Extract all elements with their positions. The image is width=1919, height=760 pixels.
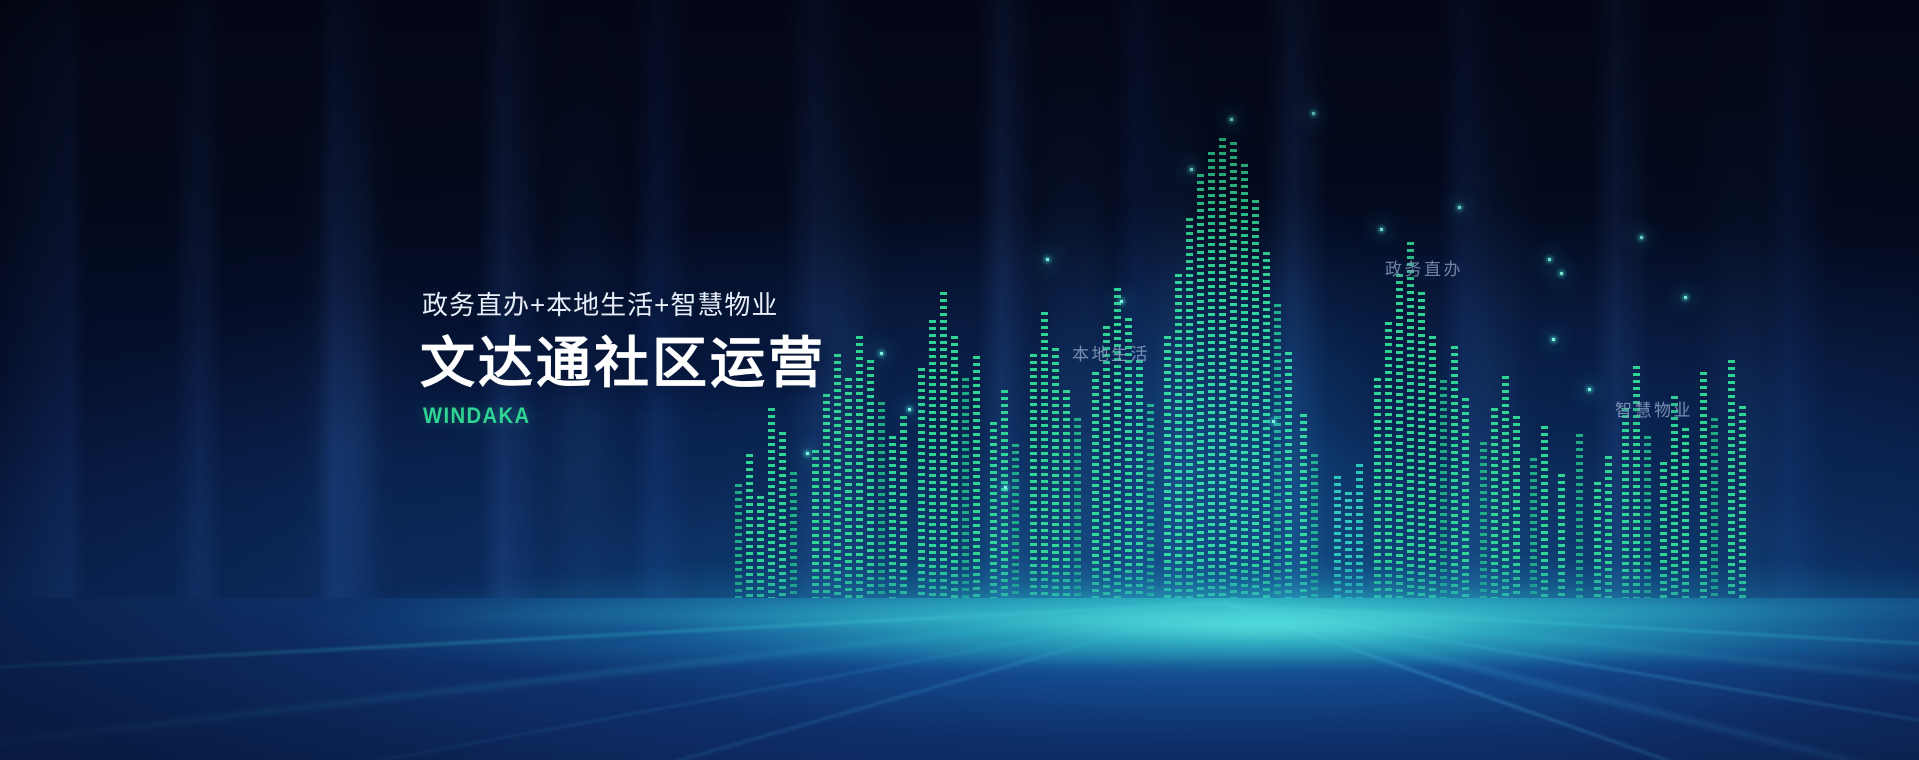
perspective-ray	[1230, 604, 1919, 685]
skyline-bar	[1429, 336, 1436, 604]
skyline-bar	[1671, 396, 1678, 604]
skyline-bar	[1700, 372, 1707, 604]
skyline-bar	[1311, 454, 1318, 604]
skyline-bar	[940, 292, 947, 604]
perspective-ray	[1229, 604, 1919, 760]
floating-label-3: 智慧物业	[1615, 396, 1693, 421]
skyline-bar	[1219, 138, 1226, 604]
perspective-ray	[0, 602, 1230, 760]
skyline-bar	[1041, 312, 1048, 604]
skyline-bar	[735, 484, 742, 604]
skyline-bar	[757, 496, 764, 604]
skyline-bar	[1513, 416, 1520, 604]
skyline-bar	[1594, 482, 1601, 604]
hero-eyebrow: 政务直办+本地生活+智慧物业	[422, 292, 826, 318]
skyline-bar	[1114, 288, 1121, 604]
skyline-bar	[1030, 354, 1037, 604]
skyline-bar	[962, 378, 969, 604]
skyline-bar	[1074, 418, 1081, 604]
perspective-ground	[0, 598, 1919, 760]
skyline-bar	[900, 416, 907, 604]
skyline-bar	[1530, 458, 1537, 604]
skyline-bar	[1440, 380, 1447, 604]
perspective-ray	[1230, 604, 1919, 760]
perspective-ray	[0, 600, 1230, 760]
hero-banner: 政务直办本地生活智慧物业 政务直办+本地生活+智慧物业 文达通社区运营 WIND…	[0, 0, 1919, 760]
skyline-bar	[1622, 408, 1629, 604]
perspective-ray	[124, 601, 1230, 760]
perspective-ray	[1229, 604, 1919, 760]
skyline-bar	[1241, 164, 1248, 604]
skyline-bar	[918, 368, 925, 604]
brand-wordmark: WINDAKA	[423, 405, 794, 427]
skyline-bar	[1491, 408, 1498, 604]
skyline-bar	[1012, 444, 1019, 604]
skyline-bar	[746, 454, 753, 604]
skyline-bar	[1230, 142, 1237, 604]
skyline-bar	[1576, 434, 1583, 604]
skyline-bar	[1480, 442, 1487, 604]
floating-label-1: 政务直办	[1385, 255, 1463, 280]
skyline-bar	[990, 422, 997, 604]
skyline-bar	[1001, 390, 1008, 604]
skyline-bar	[1418, 292, 1425, 604]
skyline-bar	[1558, 474, 1565, 604]
skyline-bar	[1451, 346, 1458, 604]
skyline-bar	[1175, 274, 1182, 604]
skyline-bar	[1092, 372, 1099, 604]
skyline-bar	[1682, 428, 1689, 604]
skyline-bar	[867, 360, 874, 604]
perspective-ray	[0, 601, 1230, 682]
skyline-bar	[889, 436, 896, 604]
skyline-bar	[1136, 360, 1143, 604]
perspective-ray	[1230, 604, 1919, 748]
tower-glow	[1029, 98, 1429, 684]
skyline-bar	[1739, 406, 1746, 604]
skyline-bar	[834, 354, 841, 604]
skyline-bar	[1063, 390, 1070, 604]
skyline-bar	[1345, 492, 1352, 604]
skyline-bar	[1052, 348, 1059, 604]
hero-title: 文达通社区运营	[420, 336, 826, 391]
skyline-bar	[812, 450, 819, 604]
skyline-bar	[951, 336, 958, 604]
skyline-bar	[1462, 398, 1469, 604]
skyline-bar	[768, 408, 775, 604]
skyline-bar	[1502, 376, 1509, 604]
dot-matrix-skyline	[0, 0, 1919, 620]
skyline-bar	[929, 320, 936, 604]
skyline-bar	[1164, 336, 1171, 604]
skyline-bar	[1356, 464, 1363, 604]
skyline-bar	[845, 378, 852, 604]
skyline-bar	[1285, 352, 1292, 604]
skyline-bar	[1728, 360, 1735, 604]
skyline-bar	[856, 336, 863, 604]
skyline-bar	[1274, 304, 1281, 604]
skyline-bar	[973, 356, 980, 604]
skyline-bar	[1660, 462, 1667, 604]
skyline-bar	[1541, 426, 1548, 604]
skyline-bar	[1197, 174, 1204, 604]
skyline-bar	[1385, 322, 1392, 604]
skyline-bar	[1396, 274, 1403, 604]
skyline-bar	[1103, 326, 1110, 604]
skyline-bar	[1374, 378, 1381, 604]
skyline-bar	[1252, 200, 1259, 604]
floating-label-2: 本地生活	[1072, 340, 1150, 365]
skyline-bar	[790, 472, 797, 604]
skyline-bar	[1644, 436, 1651, 604]
skyline-bar	[779, 432, 786, 604]
skyline-bar	[878, 402, 885, 604]
skyline-bar	[1334, 476, 1341, 604]
skyline-bar	[1186, 218, 1193, 604]
skyline-bar	[1263, 252, 1270, 604]
skyline-bar	[1147, 404, 1154, 604]
skyline-bar	[1407, 242, 1414, 604]
skyline-bar	[1300, 414, 1307, 604]
skyline-bar	[1208, 152, 1215, 604]
skyline-bar	[1711, 418, 1718, 604]
skyline-bar	[1605, 456, 1612, 604]
hero-copy-block: 政务直办+本地生活+智慧物业 文达通社区运营 WINDAKA	[420, 292, 826, 427]
